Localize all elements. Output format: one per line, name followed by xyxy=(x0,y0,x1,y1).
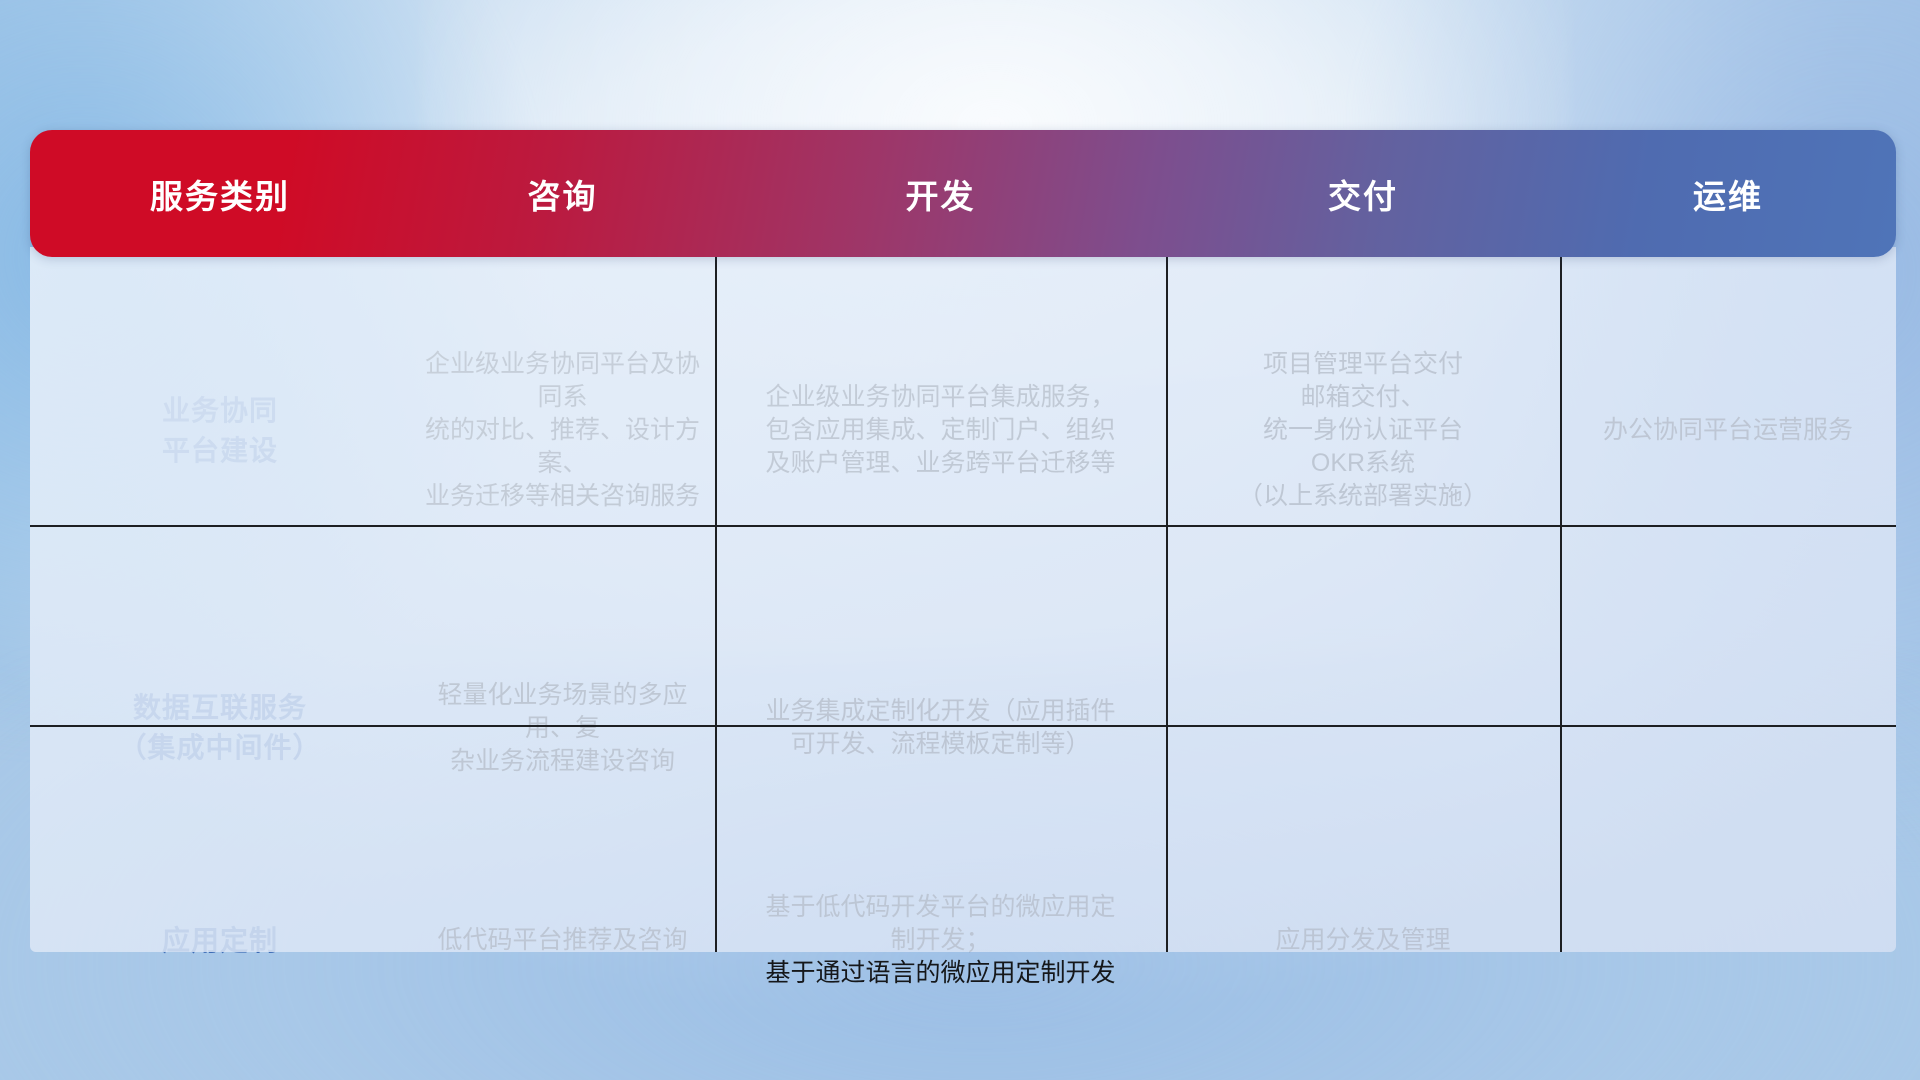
column-header-development: 开发 xyxy=(715,170,1166,218)
column-header-operations: 运维 xyxy=(1560,170,1896,218)
table-body xyxy=(30,247,1896,952)
column-header-consulting: 咨询 xyxy=(410,170,715,218)
column-divider-3 xyxy=(1166,233,1168,952)
column-divider-4 xyxy=(1560,233,1562,952)
service-matrix-table: 服务类别 咨询 开发 交付 运维 业务协同 平台建设 企业级业务协同平台及协同系… xyxy=(30,130,1896,952)
column-divider-2 xyxy=(715,233,717,952)
column-header-category: 服务类别 xyxy=(30,170,410,218)
row-divider-1 xyxy=(30,525,1896,527)
column-header-delivery: 交付 xyxy=(1166,170,1560,218)
row-divider-2 xyxy=(30,725,1896,727)
table-header-row: 服务类别 咨询 开发 交付 运维 xyxy=(30,130,1896,257)
